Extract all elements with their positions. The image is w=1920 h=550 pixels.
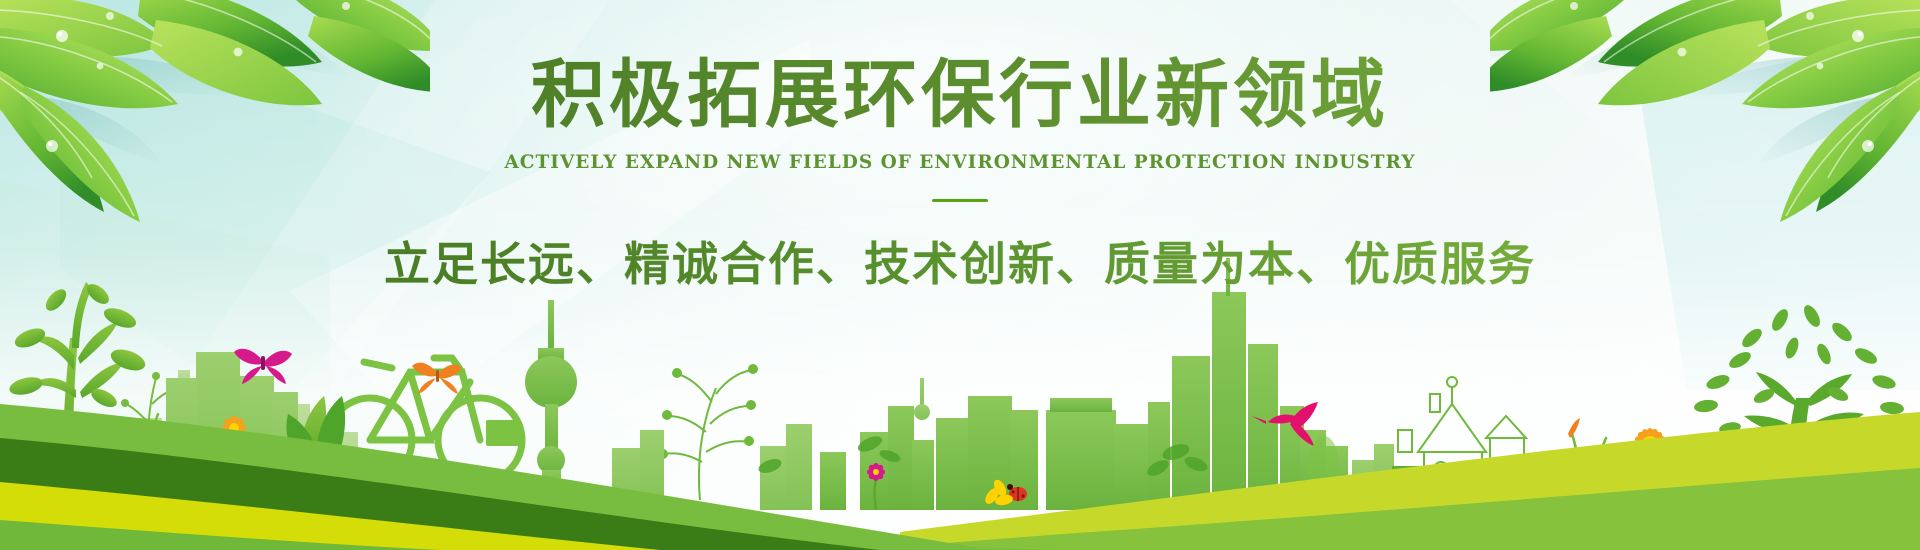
leaf-cluster-svg [1490, 0, 1920, 230]
leaf-cluster-top-right [1490, 0, 1920, 235]
leaf-cluster-svg [0, 0, 430, 230]
eco-banner: 积极拓展环保行业新领域 ACTIVELY EXPAND NEW FIELDS O… [0, 0, 1920, 550]
leaf-cluster-top-left [0, 0, 430, 235]
